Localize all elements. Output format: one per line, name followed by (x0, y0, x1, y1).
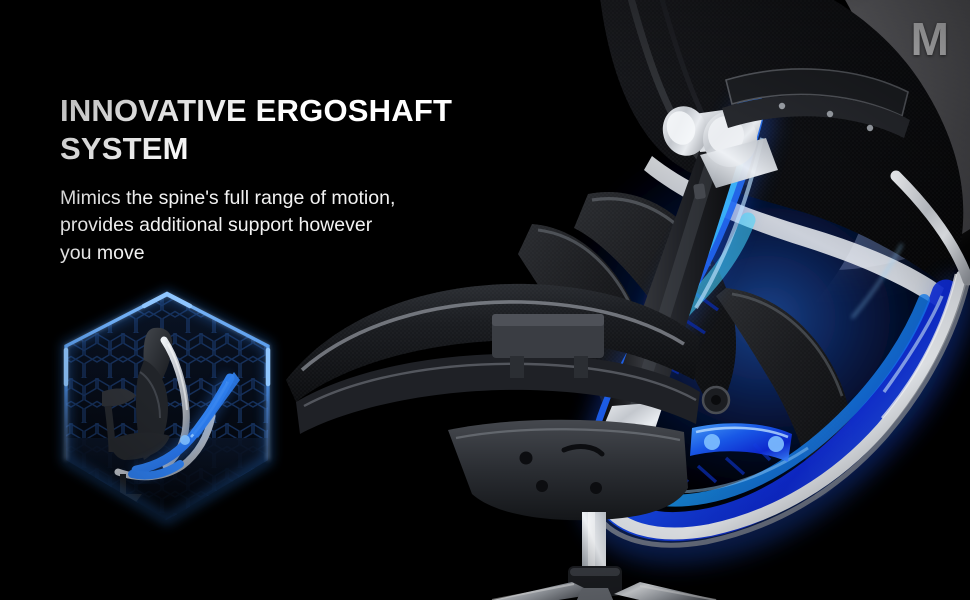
body-line-1: Mimics the spine's full range of motion, (60, 187, 395, 209)
body-line-2: provides additional support however (60, 214, 372, 236)
honeycomb-pattern (44, 274, 294, 534)
page-title: INNOVATIVE ERGOSHAFT SYSTEM (60, 92, 490, 168)
hexagon-inset-badge (58, 288, 276, 526)
body-line-3: you move (60, 242, 145, 264)
shaft-button (693, 183, 706, 199)
mechanism-housing (448, 420, 688, 521)
body-copy: Mimics the spine's full range of motion,… (60, 185, 490, 268)
headline-line-1: INNOVATIVE ERGOSHAFT (60, 93, 452, 128)
copy-block: INNOVATIVE ERGOSHAFT SYSTEM Mimics the s… (60, 92, 490, 268)
product-feature-banner: M (0, 0, 970, 600)
headline-line-2: SYSTEM (60, 131, 189, 166)
product-image-ergonomic-chair (296, 0, 970, 600)
